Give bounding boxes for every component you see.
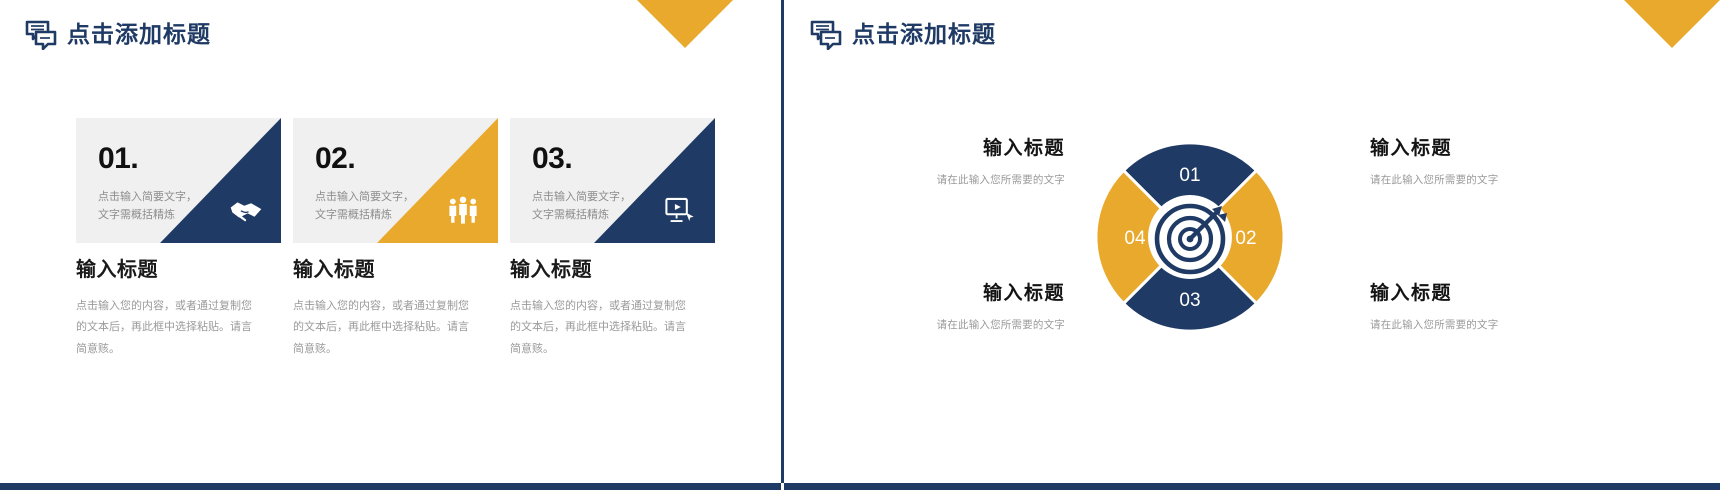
bottom-bar <box>0 483 1720 490</box>
presentation-play-icon <box>663 195 697 225</box>
diagram-label-bottom-right: 输入标题 请在此输入您所需要的文字 <box>1370 283 1570 332</box>
presentation-stage: 点击添加标题 01. 点击输入简要文字，文字需概括精炼 02. <box>0 0 1720 490</box>
corner-triangle-right-slide <box>1624 0 1720 48</box>
block-3-title: 输入标题 <box>510 258 715 282</box>
diagram-label-top-right: 输入标题 请在此输入您所需要的文字 <box>1370 138 1570 187</box>
cards-row: 01. 点击输入简要文字，文字需概括精炼 02. 点击输入简要文字，文字需概括精… <box>76 118 715 243</box>
donut-label-02: 02 <box>1235 228 1256 249</box>
block-3-body: 点击输入您的内容，或者通过复制您的文本后，再此框中选择粘贴。请言简意赅。 <box>510 296 695 360</box>
text-blocks-row: 输入标题 点击输入您的内容，或者通过复制您的文本后，再此框中选择粘贴。请言简意赅… <box>76 258 715 360</box>
label-sub: 请在此输入您所需要的文字 <box>1370 172 1570 187</box>
text-block-1: 输入标题 点击输入您的内容，或者通过复制您的文本后，再此框中选择粘贴。请言简意赅… <box>76 258 281 360</box>
block-1-title: 输入标题 <box>76 258 281 282</box>
label-title: 输入标题 <box>865 283 1065 306</box>
block-1-body: 点击输入您的内容，或者通过复制您的文本后，再此框中选择粘贴。请言简意赅。 <box>76 296 261 360</box>
block-2-body: 点击输入您的内容，或者通过复制您的文本后，再此框中选择粘贴。请言简意赅。 <box>293 296 478 360</box>
card-02-desc: 点击输入简要文字，文字需概括精炼 <box>315 188 425 224</box>
slide-left: 点击添加标题 01. 点击输入简要文字，文字需概括精炼 02. <box>0 0 780 490</box>
card-02-number: 02. <box>315 144 355 174</box>
text-block-3: 输入标题 点击输入您的内容，或者通过复制您的文本后，再此框中选择粘贴。请言简意赅… <box>510 258 715 360</box>
card-01-desc: 点击输入简要文字，文字需概括精炼 <box>98 188 208 224</box>
card-03-desc: 点击输入简要文字，文字需概括精炼 <box>532 188 642 224</box>
donut-svg: 01 02 03 04 <box>1075 122 1305 352</box>
card-03-number: 03. <box>532 144 572 174</box>
label-sub: 请在此输入您所需要的文字 <box>1370 317 1570 332</box>
label-title: 输入标题 <box>1370 138 1570 161</box>
page-title: 点击添加标题 <box>852 24 996 47</box>
card-03[interactable]: 03. 点击输入简要文字，文字需概括精炼 <box>510 118 715 243</box>
corner-triangle-left-slide <box>637 0 733 48</box>
donut-label-04: 04 <box>1124 228 1146 249</box>
block-2-title: 输入标题 <box>293 258 498 282</box>
card-01[interactable]: 01. 点击输入简要文字，文字需概括精炼 <box>76 118 281 243</box>
card-02[interactable]: 02. 点击输入简要文字，文字需概括精炼 <box>293 118 498 243</box>
label-sub: 请在此输入您所需要的文字 <box>865 317 1065 332</box>
donut-label-01: 01 <box>1179 165 1200 186</box>
card-01-number: 01. <box>98 144 138 174</box>
text-block-2: 输入标题 点击输入您的内容，或者通过复制您的文本后，再此框中选择粘贴。请言简意赅… <box>293 258 498 360</box>
handshake-icon <box>229 195 263 225</box>
diagram-label-bottom-left: 输入标题 请在此输入您所需要的文字 <box>865 283 1065 332</box>
people-group-icon <box>446 195 480 225</box>
slide-divider <box>781 0 784 490</box>
target-dart-icon <box>1157 206 1227 272</box>
label-title: 输入标题 <box>1370 283 1570 306</box>
speech-bubbles-icon <box>809 20 843 50</box>
header-right: 点击添加标题 <box>809 20 996 50</box>
diagram-label-top-left: 输入标题 请在此输入您所需要的文字 <box>865 138 1065 187</box>
donut-diagram: 01 02 03 04 <box>1075 122 1305 352</box>
label-title: 输入标题 <box>865 138 1065 161</box>
page-title: 点击添加标题 <box>67 24 211 47</box>
bottom-bar-gap <box>781 483 784 490</box>
header-left: 点击添加标题 <box>24 20 211 50</box>
label-sub: 请在此输入您所需要的文字 <box>865 172 1065 187</box>
donut-label-03: 03 <box>1179 290 1200 311</box>
speech-bubbles-icon <box>24 20 58 50</box>
